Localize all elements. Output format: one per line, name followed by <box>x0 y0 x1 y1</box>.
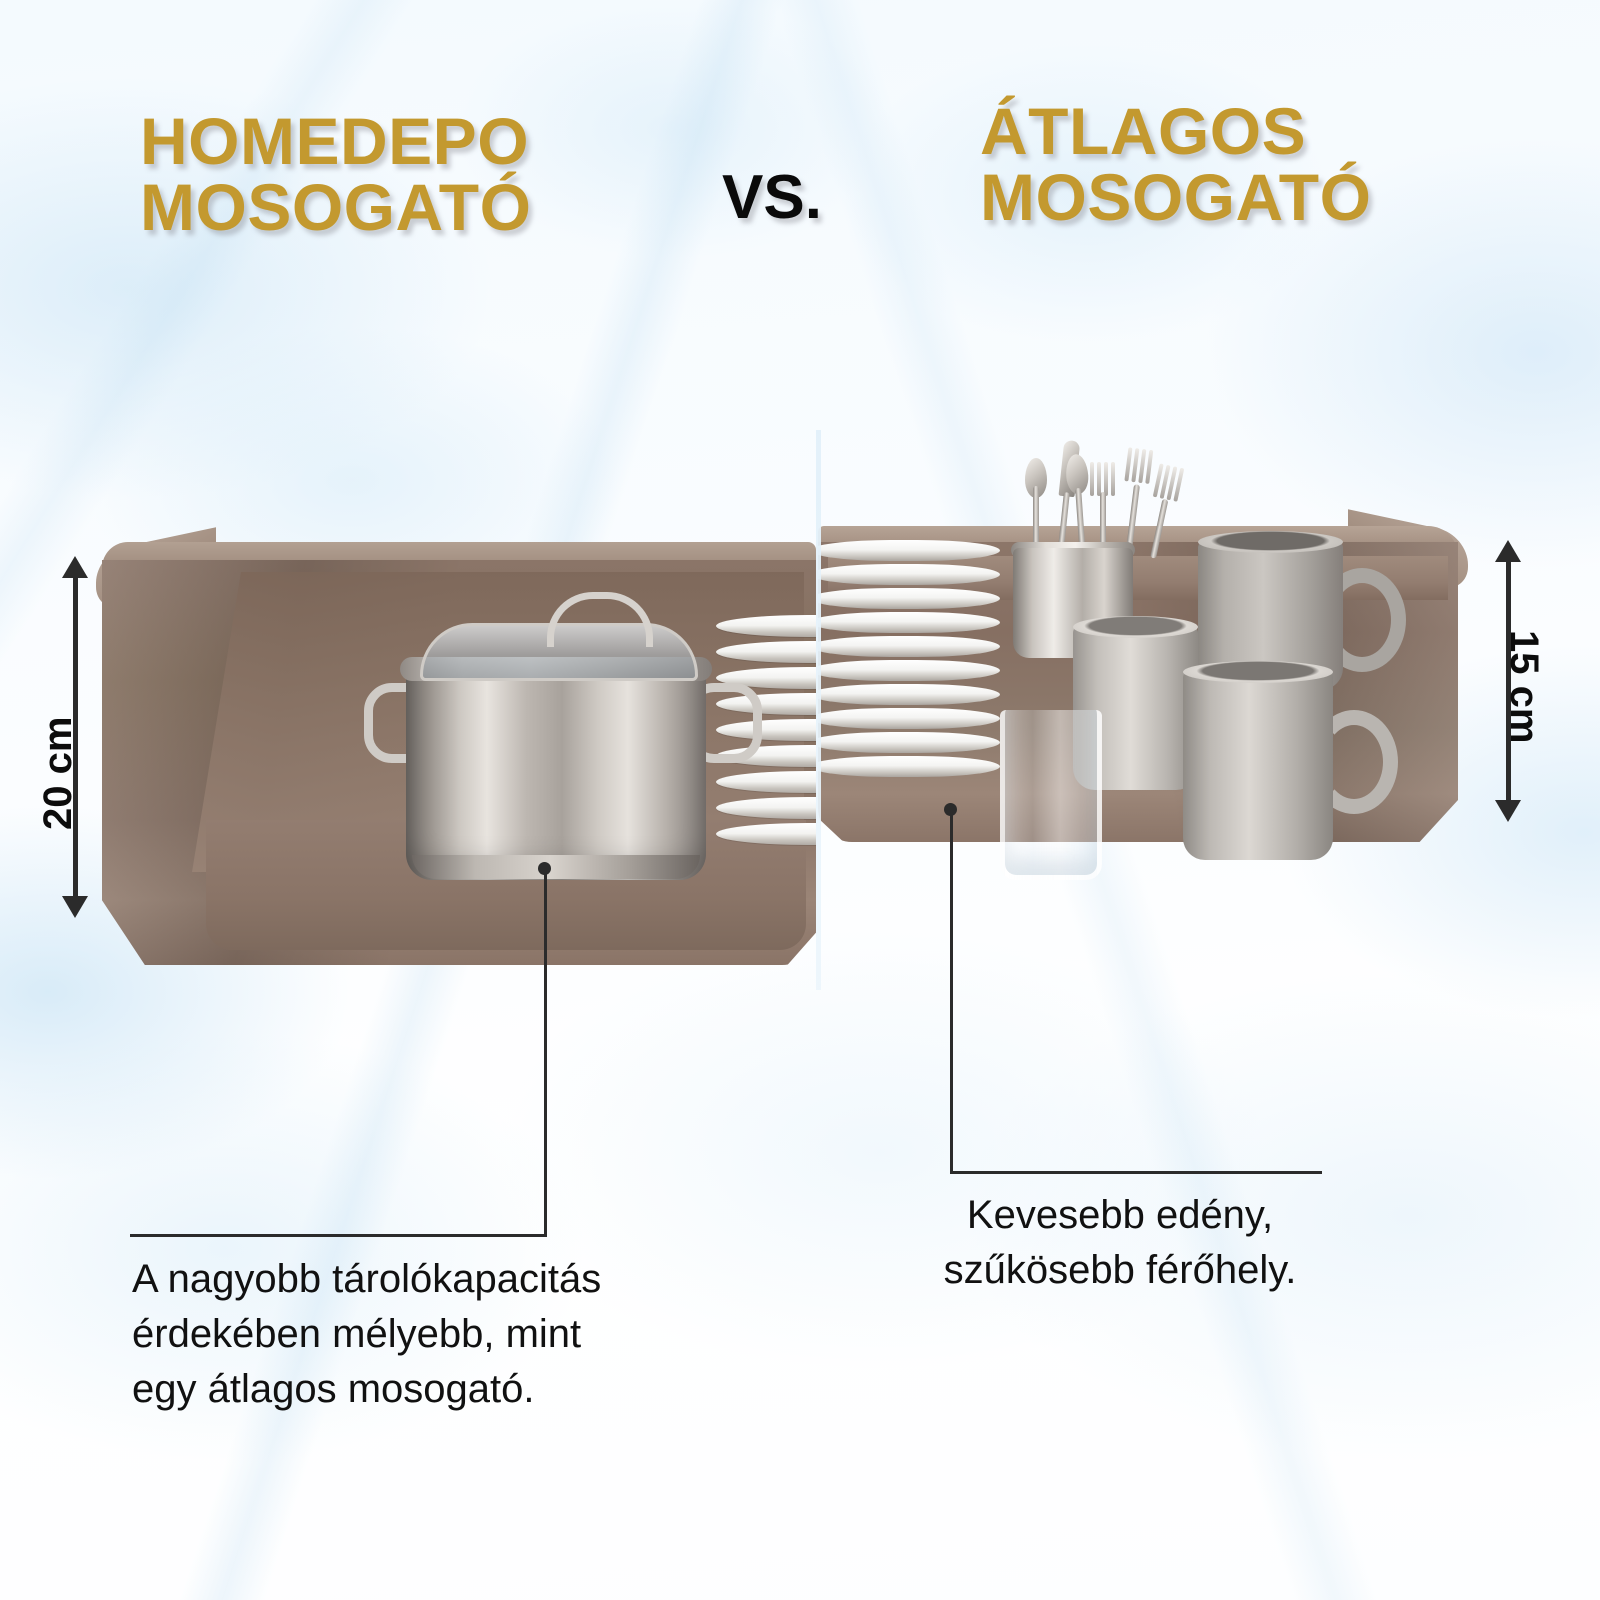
mug-opening <box>1073 616 1198 638</box>
mug-opening <box>1198 531 1343 553</box>
utensil-stem <box>1150 499 1168 559</box>
callout-vertical-line <box>544 870 547 1236</box>
stainless-stock-pot <box>386 615 726 880</box>
callout-horizontal-line <box>130 1234 547 1237</box>
callout-horizontal-line <box>950 1171 1322 1174</box>
plate <box>716 797 816 819</box>
plate <box>716 641 816 663</box>
mug-opening <box>1183 661 1333 683</box>
plate <box>818 564 1000 585</box>
fork-tines <box>1153 463 1186 502</box>
plate <box>818 756 1000 777</box>
drinking-glass <box>1000 710 1102 880</box>
left-sink-photo <box>96 520 816 980</box>
fork-tines <box>1090 462 1116 496</box>
arrow-head-down <box>62 896 88 918</box>
pot-base <box>412 855 700 879</box>
photo-split-divider <box>816 430 821 990</box>
plate <box>818 684 1000 705</box>
callout-vertical-line <box>950 811 953 1173</box>
plate <box>716 615 816 637</box>
plate <box>818 636 1000 657</box>
plate <box>818 708 1000 729</box>
right-dimension-label: 15 cm <box>1501 630 1546 743</box>
left-caption: A nagyobb tárolókapacitás érdekében mély… <box>132 1252 672 1418</box>
pot-body <box>406 665 706 880</box>
left-plate-stack <box>716 615 816 915</box>
plate <box>716 823 816 845</box>
right-sink-photo <box>818 430 1478 900</box>
arrow-head-down <box>1495 800 1521 822</box>
plate <box>818 540 1000 561</box>
mug-body <box>1183 670 1333 860</box>
plate <box>818 588 1000 609</box>
plate <box>818 612 1000 633</box>
pot-glass-lid <box>420 623 698 681</box>
plate <box>716 771 816 793</box>
grey-mug-front <box>1183 670 1333 860</box>
right-caption: Kevesebb edény, szűkösebb férőhely. <box>905 1188 1335 1298</box>
right-plate-stack <box>818 540 1000 800</box>
plate <box>818 732 1000 753</box>
fork-tines <box>1124 447 1154 484</box>
left-dimension-label: 20 cm <box>36 717 81 830</box>
plate <box>818 660 1000 681</box>
